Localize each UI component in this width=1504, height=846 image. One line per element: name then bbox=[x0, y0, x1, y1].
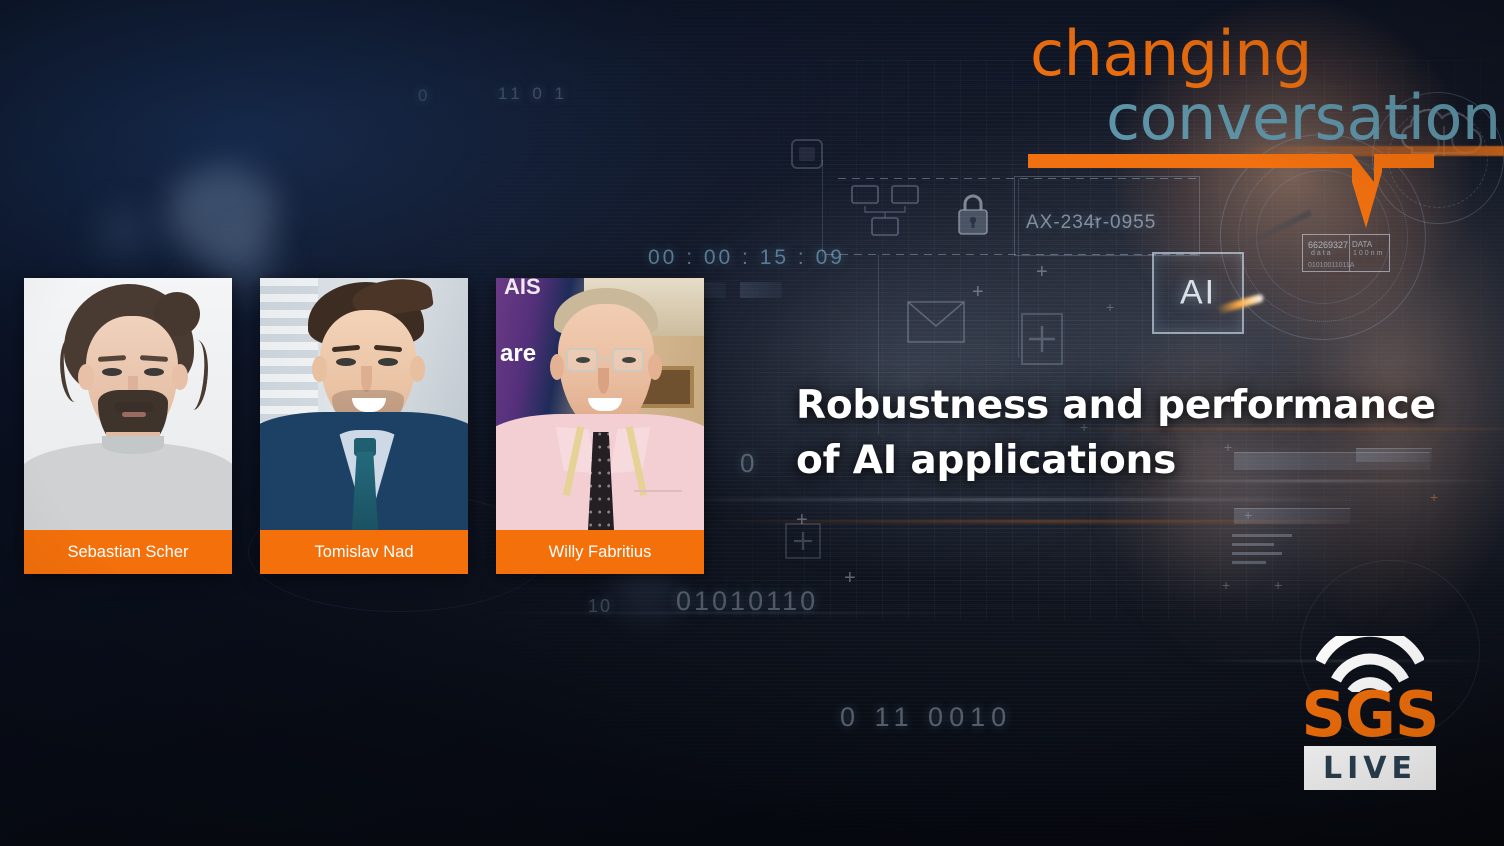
speaker-name: Sebastian Scher bbox=[67, 543, 188, 562]
chip-id-text: 66269327 bbox=[1308, 240, 1348, 250]
hud-vertical-line bbox=[822, 160, 823, 256]
speaker-name-bar: Willy Fabritius bbox=[496, 530, 704, 574]
crosshair-icon: + bbox=[1274, 578, 1282, 592]
network-devices-icon bbox=[850, 184, 934, 240]
speaker-photo bbox=[260, 278, 468, 530]
speaker-card[interactable]: Sebastian Scher bbox=[24, 278, 232, 574]
hud-timer-text: 00 : 00 : 15 : 09 bbox=[648, 246, 845, 270]
live-label: LIVE bbox=[1323, 751, 1417, 786]
changing-conversations-logo: changing conversations bbox=[1022, 22, 1492, 212]
live-badge: LIVE bbox=[1304, 746, 1436, 790]
crosshair-icon: + bbox=[972, 282, 984, 302]
photo-banner-text: are bbox=[500, 340, 536, 368]
crosshair-icon: + bbox=[1036, 262, 1048, 282]
slide-canvas: 66269327 DATA data 100nm 01010011011A AI… bbox=[0, 0, 1504, 846]
speaker-name: Willy Fabritius bbox=[549, 543, 652, 562]
logo-speech-bubble-rule bbox=[1022, 140, 1492, 236]
title-line-2: of AI applications bbox=[796, 433, 1476, 488]
chip-data-label: data bbox=[1311, 250, 1333, 257]
page-title: Robustness and performance of AI applica… bbox=[796, 378, 1476, 489]
light-streak bbox=[470, 612, 1030, 614]
chip-right-label: DATA bbox=[1352, 240, 1372, 249]
title-line-1: Robustness and performance bbox=[796, 378, 1476, 433]
mail-icon bbox=[906, 300, 966, 344]
crosshair-icon: + bbox=[1106, 300, 1114, 314]
hud-bar-fill bbox=[740, 282, 782, 298]
light-streak bbox=[700, 520, 1400, 523]
speaker-photo bbox=[24, 278, 232, 530]
hud-binary-text: 0 11 0010 bbox=[840, 702, 1012, 733]
speaker-name: Tomislav Nad bbox=[314, 543, 413, 562]
logo-line-1: changing bbox=[1030, 22, 1312, 85]
ai-hud-box: AI bbox=[1152, 252, 1244, 334]
photo-banner-top-text: AIS bbox=[504, 278, 541, 300]
chip-square-icon bbox=[790, 138, 824, 170]
hud-digit-text: 0 bbox=[418, 86, 429, 106]
hud-digit-text: 0 bbox=[740, 448, 756, 479]
hud-digit-text: 11 0 1 bbox=[498, 84, 568, 104]
speaker-card[interactable]: AIS are Willy Fa bbox=[496, 278, 704, 574]
crosshair-icon: + bbox=[1430, 490, 1438, 504]
bokeh-circle bbox=[96, 206, 152, 258]
chip-right-sub: 100nm bbox=[1353, 250, 1384, 257]
speaker-name-bar: Sebastian Scher bbox=[24, 530, 232, 574]
lock-icon bbox=[956, 192, 990, 236]
sgs-wordmark: SGS bbox=[1296, 684, 1444, 746]
hud-text-lines bbox=[1232, 534, 1292, 570]
sgs-live-logo: SGS LIVE bbox=[1296, 636, 1444, 792]
crosshair-icon: + bbox=[1222, 578, 1230, 592]
chip-serial-text: 01010011011A bbox=[1308, 262, 1354, 269]
speaker-name-bar: Tomislav Nad bbox=[260, 530, 468, 574]
crosshair-icon: + bbox=[844, 568, 856, 588]
document-plus-icon bbox=[1020, 312, 1064, 366]
speaker-photo: AIS are bbox=[496, 278, 704, 530]
light-streak bbox=[640, 498, 1380, 501]
speaker-card[interactable]: Tomislav Nad bbox=[260, 278, 468, 574]
